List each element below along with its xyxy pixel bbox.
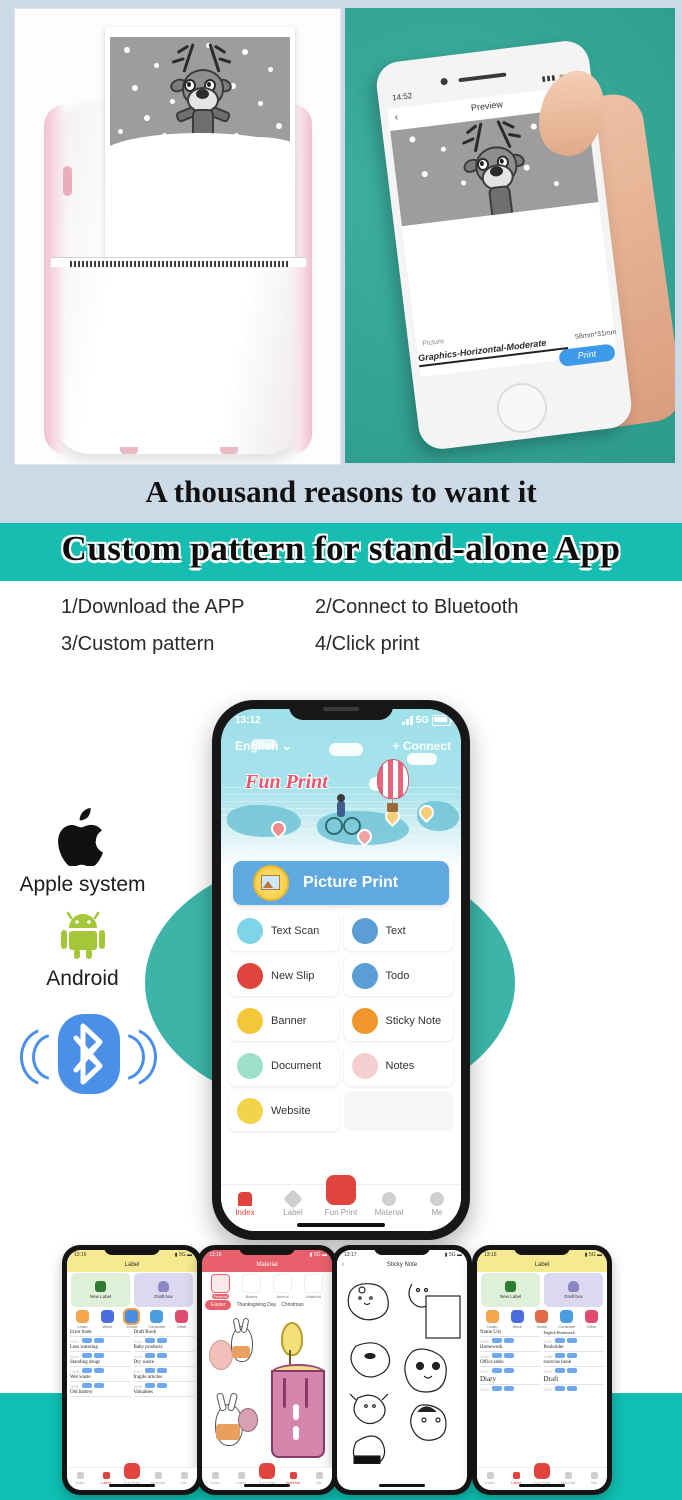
mini-title: Label [67, 1262, 197, 1268]
material-category-basics[interactable]: Basics [236, 1274, 267, 1299]
label-item-meta: 11419 [480, 1386, 541, 1392]
menu-label: Text Scan [271, 925, 319, 937]
consume-icon [560, 1310, 573, 1323]
main-phone-device: Fun Print 13:12 5G English ⌄ + Connect [212, 700, 470, 1240]
draft-icon [568, 1281, 579, 1292]
tab-label: Fun Print [325, 1208, 357, 1217]
label-action-cards: New Label Draft box [71, 1273, 193, 1307]
mini-phone-notch [104, 1245, 160, 1255]
picture-print-button[interactable]: Picture Print [233, 861, 449, 905]
home-indicator [297, 1223, 385, 1227]
menu-item-website[interactable]: Website [229, 1091, 339, 1131]
category-other[interactable]: Other [169, 1310, 194, 1329]
step-3: 3/Custom pattern [61, 633, 214, 656]
tagline-text: A thousand reasons to want it [0, 474, 682, 510]
other-icon [585, 1310, 598, 1323]
label-row: Homework11388 Penholder11389 [480, 1345, 604, 1359]
label-row: Error book11402 Draft Book11403 [70, 1330, 194, 1344]
mini-status-icons: ▮ 5G ▬ [310, 1252, 327, 1258]
label-item-name: Old battery [70, 1390, 131, 1397]
step-2: 2/Connect to Bluetooth [315, 596, 518, 619]
bluetooth-icon [58, 1014, 120, 1094]
headline-text: Custom pattern for stand-alone App [0, 529, 682, 569]
network-label: 5G [416, 715, 429, 726]
consume-icon [150, 1310, 163, 1323]
tab-label: Index [235, 1208, 255, 1217]
menu-label: Todo [386, 970, 410, 982]
material-category-festival[interactable]: Festival [205, 1274, 236, 1299]
menu-item-todo[interactable]: Todo [344, 956, 454, 996]
mini-tab-label: Index [485, 1480, 495, 1485]
label-item[interactable]: Penholder11389 [544, 1345, 605, 1359]
label-item[interactable]: Draft11420 [544, 1375, 605, 1392]
category-learn[interactable]: Learn [480, 1310, 505, 1329]
label-category-row: Learn Work Home Consume Other [480, 1310, 604, 1329]
phone-in-hand-photo: 14:52 ▮▮▮ ≋ ▬ ‹ Preview [345, 8, 675, 463]
menu-label: Document [271, 1060, 321, 1072]
steps-list: 1/Download the APP 2/Connect to Bluetoot… [0, 592, 682, 672]
label-item-meta: 11386 [480, 1338, 541, 1344]
label-item[interactable]: Valuables [134, 1390, 195, 1397]
category-label: Consume [148, 1324, 165, 1329]
label-item-meta: 11417 [480, 1368, 541, 1374]
menu-item-new-slip[interactable]: New Slip [229, 956, 339, 996]
category-label: Other [177, 1324, 187, 1329]
mini-status-icons: ▮ 5G ▬ [175, 1252, 192, 1258]
label-item[interactable]: exercise book11418 [544, 1360, 605, 1374]
printer-power-button [63, 166, 72, 196]
mini-title: Sticky Note [337, 1262, 467, 1268]
printer-photo [14, 8, 341, 465]
sticky-note-animal-drawings[interactable] [340, 1274, 464, 1464]
menu-label: Banner [271, 1015, 306, 1027]
label-action-cards: New Label Draft box [481, 1273, 603, 1307]
headline-banner: Custom pattern for stand-alone App [0, 523, 682, 581]
label-item-name: Draft [544, 1375, 605, 1385]
rocket-icon [352, 1053, 378, 1079]
banner-icon [237, 1008, 263, 1034]
category-home[interactable]: Home [530, 1310, 555, 1329]
mini-phone-sticky-note: 13:17 ▮ 5G ▬ ‹ Sticky Note [332, 1245, 472, 1495]
app-logo-text: Fun Print [245, 771, 328, 794]
apple-platform-label: Apple system [0, 873, 165, 897]
tab-index[interactable]: Index [221, 1185, 269, 1231]
label-item-list: Error book11402 Draft Book11403 Less wat… [70, 1330, 194, 1398]
mini-tab-label: Me [591, 1480, 597, 1485]
printed-receipt-paper [105, 27, 295, 259]
label-item[interactable]: Baby products11405 [134, 1345, 195, 1359]
label-item-name: Error book [70, 1330, 131, 1337]
label-item[interactable]: fragile articles11409 [134, 1375, 195, 1389]
label-item-name: fragile articles [134, 1375, 195, 1382]
front-camera-icon [440, 78, 448, 86]
menu-row: Document Notes [221, 1046, 461, 1086]
mini-tab-label: Me [316, 1480, 322, 1485]
label-item[interactable]: Draft Book11403 [134, 1330, 195, 1344]
sub-tab-thanksgiving[interactable]: Thanksgiving Day [236, 1302, 276, 1308]
label-item[interactable]: Old battery [70, 1390, 131, 1397]
label-item-meta: 11407 [134, 1368, 195, 1374]
menu-item-banner[interactable]: Banner [229, 1001, 339, 1041]
card-label: Draft box [564, 1294, 582, 1299]
tagline-banner: A thousand reasons to want it [0, 468, 682, 523]
step-1: 1/Download the APP [61, 596, 244, 619]
learn-icon [486, 1310, 499, 1323]
mini-status-icons: ▮ 5G ▬ [445, 1252, 462, 1258]
label-row: Old battery Valuables [70, 1390, 194, 1397]
step-4: 4/Click print [315, 633, 419, 656]
label-item-meta: 11388 [480, 1353, 541, 1359]
android-platform-block: Android [0, 908, 165, 991]
label-row: Diary11419 Draft11420 [480, 1375, 604, 1392]
new-label-card[interactable]: New Label [481, 1273, 540, 1307]
draft-box-card[interactable]: Draft box [134, 1273, 193, 1307]
label-item[interactable]: Less watering11404 [70, 1345, 131, 1359]
label-item-name: Homework [480, 1345, 541, 1352]
mini-title: Label [477, 1262, 607, 1268]
menu-row: Website [221, 1091, 461, 1131]
menu-item-document[interactable]: Document [229, 1046, 339, 1086]
label-category-row: Learn Work Home Consume Other [70, 1310, 194, 1329]
mini-phone-label-home: 13:16 ▮ 5G ▬ Label New Label Draft box L… [62, 1245, 202, 1495]
artwork-easter-bunny-basket[interactable] [205, 1388, 263, 1462]
mini-tab-index[interactable]: Index [202, 1468, 228, 1490]
card-label: New Label [90, 1294, 111, 1299]
receipt-icon [237, 963, 263, 989]
mini-home-indicator [244, 1484, 290, 1487]
label-item-name: Penholder [544, 1345, 605, 1352]
mini-tab-index[interactable]: Index [477, 1468, 503, 1490]
menu-item-notes[interactable]: Notes [344, 1046, 454, 1086]
back-icon[interactable]: ‹ [342, 1262, 344, 1268]
category-label: Home [537, 1324, 548, 1329]
tab-me[interactable]: Me [413, 1185, 461, 1231]
text-scan-icon [237, 918, 263, 944]
connect-button[interactable]: + Connect [393, 739, 451, 753]
menu-label: Notes [386, 1060, 415, 1072]
cyclist-icon [325, 801, 359, 831]
tab-label: Material [375, 1208, 403, 1217]
printer-foot-right [220, 447, 238, 454]
category-work[interactable]: Work [95, 1310, 120, 1329]
mini-tab-label: Me [181, 1480, 187, 1485]
tab-label: Me [431, 1208, 442, 1217]
category-label: Learn [77, 1324, 87, 1329]
home-icon [238, 1192, 252, 1206]
browser-icon [237, 1098, 263, 1124]
home-icon [125, 1310, 138, 1323]
picture-icon [253, 865, 289, 901]
category-label: Work [513, 1324, 522, 1329]
mini-home-indicator [109, 1484, 155, 1487]
label-item-name: Valuables [134, 1390, 195, 1397]
chevron-down-icon: ⌄ [282, 739, 292, 753]
category-work[interactable]: Work [505, 1310, 530, 1329]
label-row: Name Lily11386 English Homework11387 [480, 1330, 604, 1344]
label-row: Office table11417 exercise book11418 [480, 1360, 604, 1374]
mini-phone-notch [514, 1245, 570, 1255]
material-artwork-area [205, 1312, 329, 1462]
label-item-meta: 11406 [70, 1368, 131, 1374]
apple-logo-icon [56, 808, 110, 866]
plus-icon [505, 1281, 516, 1292]
label-item[interactable]: Name Lily11386 [480, 1330, 541, 1344]
menu-label: Sticky Note [386, 1015, 442, 1027]
menu-label: New Slip [271, 970, 314, 982]
menu-row: New Slip Todo [221, 956, 461, 996]
home-icon [535, 1310, 548, 1323]
paper-cutter-teeth [70, 261, 288, 267]
sparkle-icon [382, 1192, 396, 1206]
category-label: Learn [487, 1324, 497, 1329]
folder-icon [237, 1053, 263, 1079]
label-item-meta: 11402 [70, 1338, 131, 1344]
label-item[interactable]: Standing drugs11406 [70, 1360, 131, 1374]
mini-status-icons: ▮ 5G ▬ [585, 1252, 602, 1258]
product-marketing-page: 14:52 ▮▮▮ ≋ ▬ ‹ Preview [0, 0, 682, 1500]
category-label: Work [103, 1324, 112, 1329]
label-item[interactable]: Homework11388 [480, 1345, 541, 1359]
category-label: Other [587, 1324, 597, 1329]
home-button[interactable] [494, 380, 550, 436]
menu-label: Website [271, 1105, 311, 1117]
menu-item-sticky-note[interactable]: Sticky Note [344, 1001, 454, 1041]
label-item[interactable]: Wet waste11408 [70, 1375, 131, 1389]
material-category-material[interactable]: Material [298, 1274, 329, 1299]
label-item-name: English Homework [544, 1330, 605, 1337]
mini-status-time: 13:16 [209, 1252, 222, 1258]
hero-photo-band: 14:52 ▮▮▮ ≋ ▬ ‹ Preview [0, 0, 682, 468]
work-icon [511, 1310, 524, 1323]
mini-status-time: 13:16 [484, 1252, 497, 1258]
language-label: English [235, 739, 278, 753]
sub-tab-christmas[interactable]: Christmas [281, 1302, 304, 1308]
mini-phone-notch [239, 1245, 295, 1255]
label-item-meta: 11405 [134, 1353, 195, 1359]
label-item[interactable]: Dry waste11407 [134, 1360, 195, 1374]
mini-status-time: 13:17 [344, 1252, 357, 1258]
other-icon [175, 1310, 188, 1323]
work-icon [101, 1310, 114, 1323]
mini-tab-label: Index [75, 1480, 85, 1485]
label-item-meta: 11418 [544, 1368, 605, 1374]
pencil-icon [352, 918, 378, 944]
category-home[interactable]: Home [120, 1310, 145, 1329]
preview-status-time: 14:52 [392, 91, 413, 102]
label-item[interactable]: Error book11402 [70, 1330, 131, 1344]
main-phone-screen: Fun Print 13:12 5G English ⌄ + Connect [221, 709, 461, 1231]
language-selector[interactable]: English ⌄ [235, 739, 292, 753]
menu-item-text-scan[interactable]: Text Scan [229, 911, 339, 951]
printer-foot-left [120, 447, 138, 454]
category-consume[interactable]: Consume [144, 1310, 169, 1329]
artwork-lit-candle[interactable] [267, 1322, 329, 1462]
picture-print-label: Picture Print [303, 874, 398, 892]
android-platform-label: Android [0, 967, 165, 991]
mini-home-indicator [379, 1484, 425, 1487]
mini-phone-material: 13:16 ▮ 5G ▬ Material Festival Basics An… [197, 1245, 337, 1495]
mini-tab-index[interactable]: Index [67, 1468, 93, 1490]
menu-item-text[interactable]: Text [344, 911, 454, 951]
material-category-animal[interactable]: Animal [267, 1274, 298, 1299]
mini-title: Material [202, 1262, 332, 1268]
label-item-name: Baby products [134, 1345, 195, 1352]
status-icons: 5G [402, 715, 451, 726]
app-menu-grid: Text Scan Text New Slip Todo [221, 911, 461, 1136]
label-item-name: exercise book [544, 1360, 605, 1367]
plus-icon [95, 1281, 106, 1292]
checklist-icon [352, 963, 378, 989]
balloon-basket-icon [387, 803, 398, 812]
category-consume[interactable]: Consume [554, 1310, 579, 1329]
label-item-name: Office table [480, 1360, 541, 1367]
mini-home-indicator [519, 1484, 565, 1487]
apple-platform-block: Apple system [0, 808, 165, 897]
artwork-easter-bunny-egg[interactable] [205, 1312, 263, 1384]
label-item-meta: 11404 [70, 1353, 131, 1359]
label-item-name: Draft Book [134, 1330, 195, 1337]
label-row: Less watering11404 Baby products11405 [70, 1345, 194, 1359]
status-time: 13:12 [235, 715, 261, 726]
category-label: Consume [558, 1324, 575, 1329]
label-item-name: Less watering [70, 1345, 131, 1352]
material-category-label: Festival [212, 1294, 230, 1299]
sticky-note-icon [352, 1008, 378, 1034]
signal-icon [402, 716, 413, 725]
card-label: Draft box [154, 1294, 172, 1299]
label-item-name: Wet waste [70, 1375, 131, 1382]
menu-row: Text Scan Text [221, 911, 461, 951]
label-item[interactable]: Office table11417 [480, 1360, 541, 1374]
menu-label: Text [386, 925, 406, 937]
label-row: Standing drugs11406 Dry waste11407 [70, 1360, 194, 1374]
label-item[interactable]: English Homework11387 [544, 1330, 605, 1344]
mini-phone-label-work: 13:16 ▮ 5G ▬ Label New Label Draft box L… [472, 1245, 612, 1495]
android-robot-icon [57, 908, 109, 960]
hot-air-balloon-icon [377, 759, 409, 799]
label-item[interactable]: Diary11419 [480, 1375, 541, 1392]
label-item-name: Standing drugs [70, 1360, 131, 1367]
label-item-name: Diary [480, 1375, 541, 1385]
mini-status-time: 13:16 [74, 1252, 87, 1258]
category-label: Home [127, 1324, 138, 1329]
card-label: New Label [500, 1294, 521, 1299]
menu-item-empty [344, 1091, 454, 1131]
label-item-list: Name Lily11386 English Homework11387 Hom… [480, 1330, 604, 1393]
person-icon [430, 1192, 444, 1206]
draft-box-card[interactable]: Draft box [544, 1273, 603, 1307]
learn-icon [76, 1310, 89, 1323]
phone-notch [289, 700, 393, 720]
label-item-meta: 11403 [134, 1338, 195, 1344]
label-item-meta: 11408 [70, 1383, 131, 1389]
label-item-meta: 11387 [544, 1338, 605, 1344]
mini-tab-me[interactable]: Me [171, 1468, 197, 1490]
label-item-meta: 11409 [134, 1383, 195, 1389]
material-category-label: Material [306, 1294, 320, 1299]
label-row: Wet waste11408 fragile articles11409 [70, 1375, 194, 1389]
printed-reindeer-image [110, 37, 290, 153]
bluetooth-block [6, 1014, 171, 1102]
sub-tab-easter[interactable]: Easter [205, 1300, 231, 1310]
battery-icon [432, 715, 451, 726]
sticky-note-artwork-grid [340, 1274, 464, 1464]
label-item-meta: 11389 [544, 1353, 605, 1359]
category-learn[interactable]: Learn [70, 1310, 95, 1329]
material-category-label: Basics [246, 1294, 258, 1299]
menu-row: Banner Sticky Note [221, 1001, 461, 1041]
tag-icon [283, 1189, 303, 1209]
new-label-card[interactable]: New Label [71, 1273, 130, 1307]
material-category-row: Festival Basics Animal Material [205, 1274, 329, 1299]
material-sub-tabs: Easter Thanksgiving Day Christmas [205, 1300, 329, 1310]
label-item-name: Name Lily [480, 1330, 541, 1337]
mini-tab-label: Index [210, 1480, 220, 1485]
draft-icon [158, 1281, 169, 1292]
material-category-label: Animal [276, 1294, 288, 1299]
mini-tab-me[interactable]: Me [581, 1468, 607, 1490]
mini-phone-notch [374, 1245, 430, 1255]
mini-tab-me[interactable]: Me [306, 1468, 332, 1490]
label-item-meta: 11420 [544, 1386, 605, 1392]
tab-label: Label [283, 1208, 303, 1217]
label-item-name: Dry waste [134, 1360, 195, 1367]
app-header-bar: English ⌄ + Connect [221, 735, 461, 763]
category-other[interactable]: Other [579, 1310, 604, 1329]
